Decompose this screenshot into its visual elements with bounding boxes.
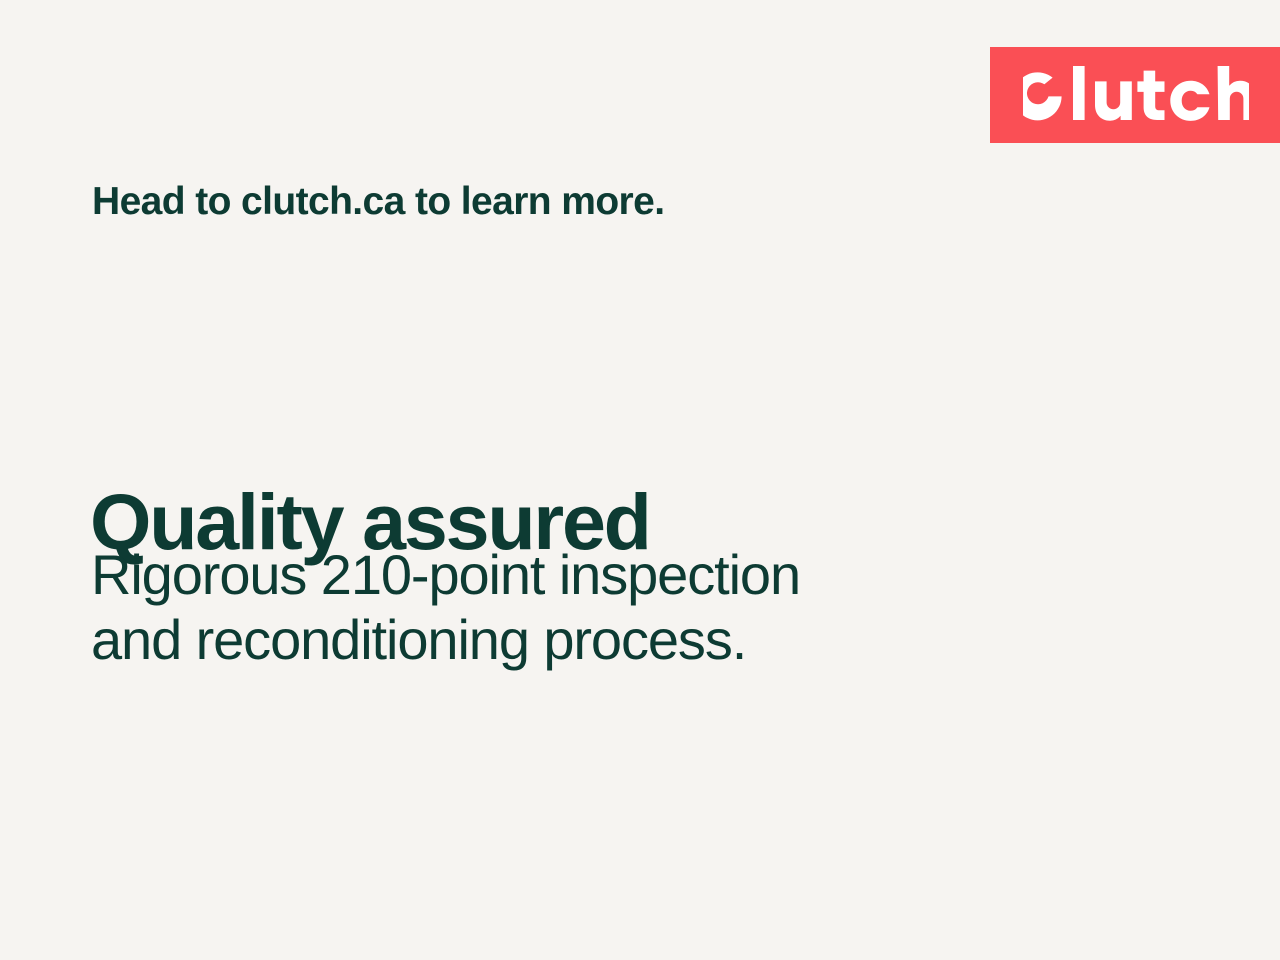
- clutch-wordmark-icon: [1023, 64, 1249, 126]
- clutch-wordmark-lockup: [1023, 64, 1249, 126]
- tagline-text: Head to clutch.ca to learn more.: [92, 179, 664, 225]
- slide-canvas: Head to clutch.ca to learn more. Quality…: [0, 0, 1280, 960]
- body-copy-line: and reconditioning process.: [91, 607, 800, 672]
- body-copy-line: Rigorous 210-point inspection: [91, 542, 800, 607]
- clutch-logo-panel[interactable]: [990, 47, 1280, 143]
- body-copy: Rigorous 210-point inspection and recond…: [91, 542, 800, 672]
